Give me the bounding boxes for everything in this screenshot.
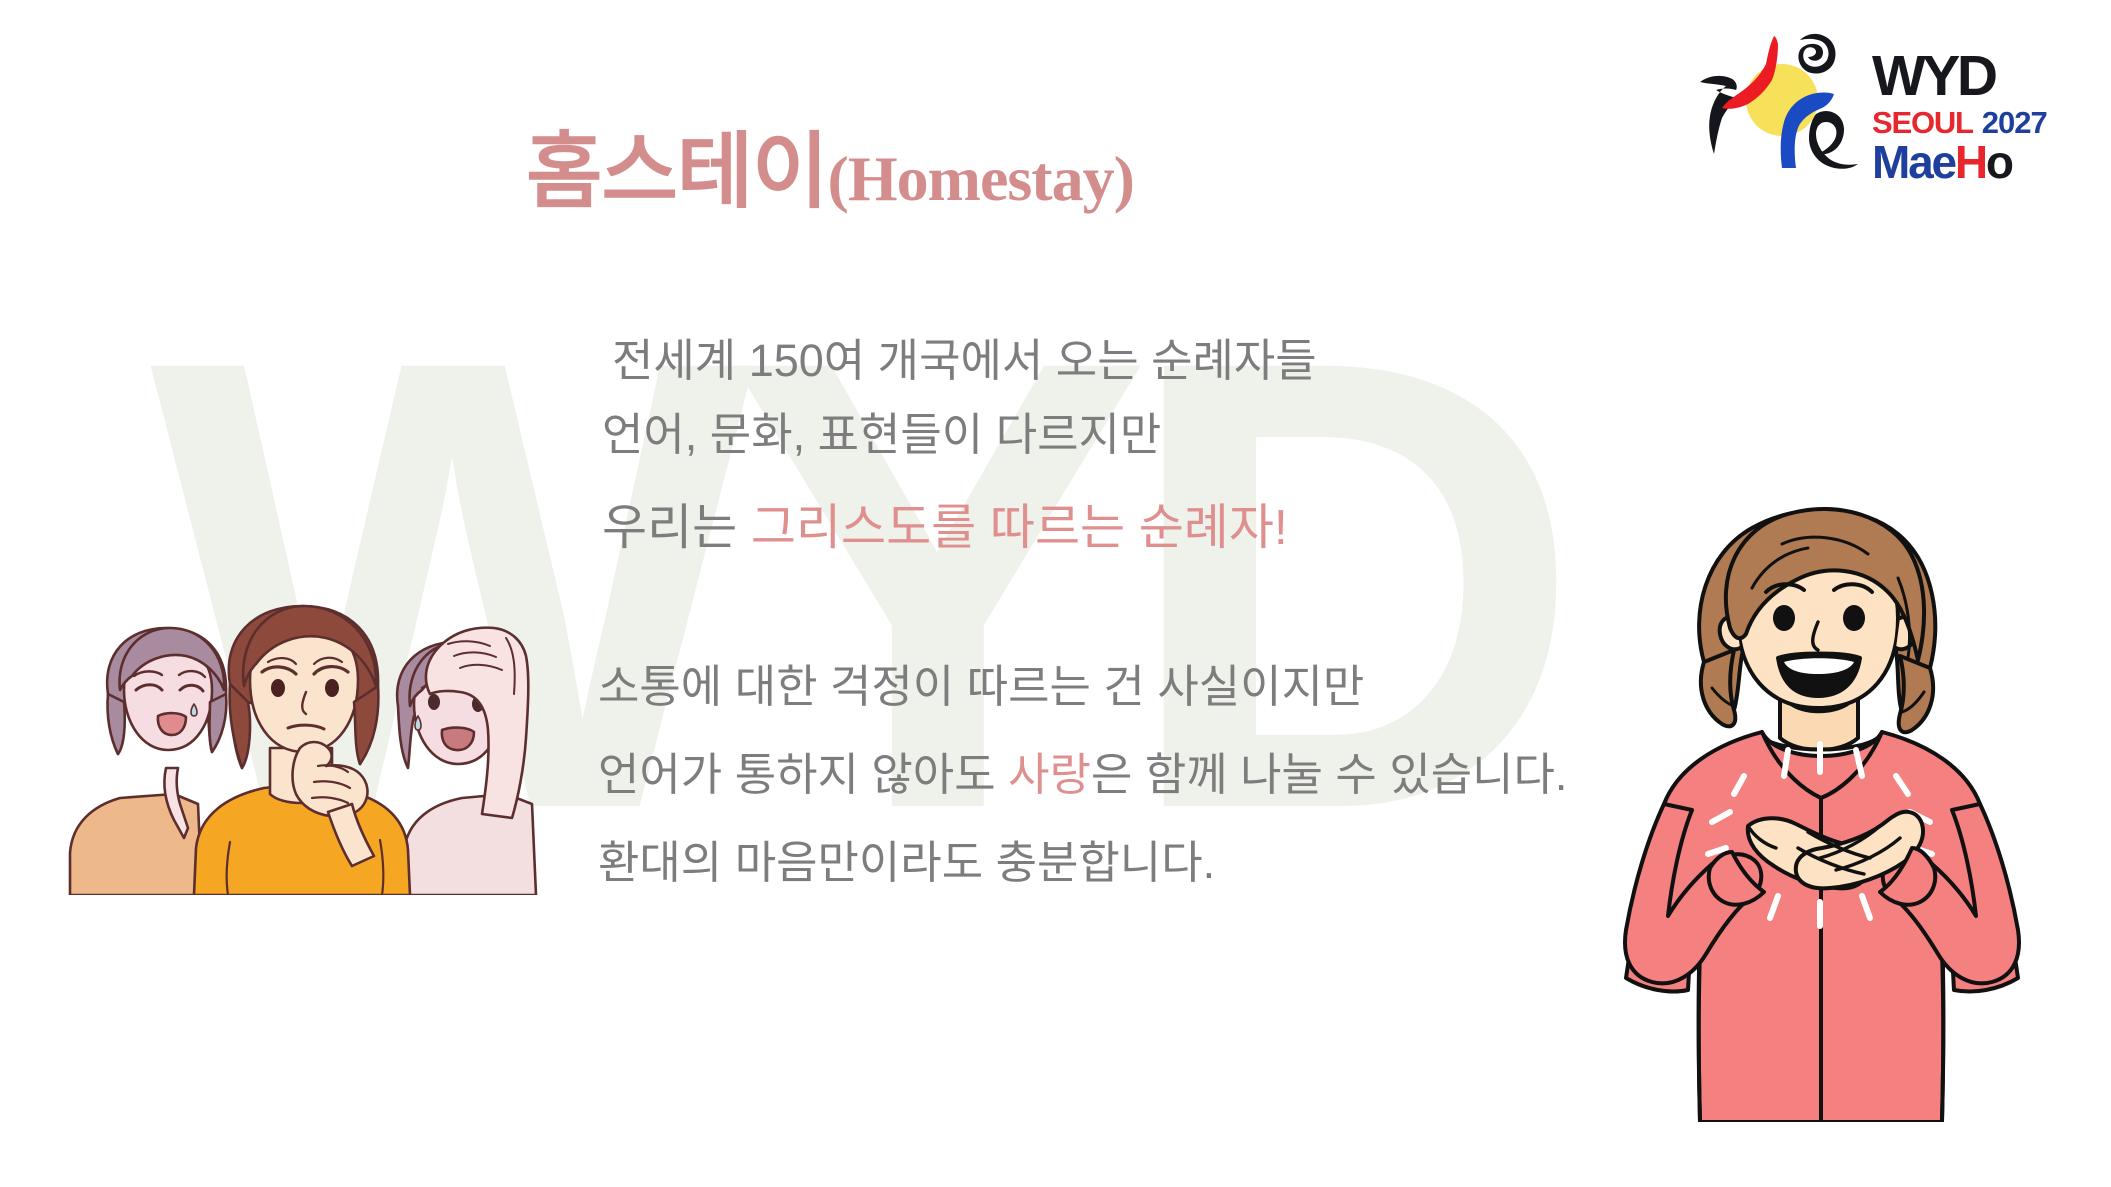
body-line-4: 소통에 대한 걱정이 따르는 건 사실이지만 — [598, 656, 1638, 718]
smiling-woman-graphic — [1612, 492, 2042, 1122]
paragraph-spacer — [598, 560, 1638, 656]
body-line-6: 환대의 마음만이라도 충분합니다. — [598, 832, 1638, 894]
slide-title-english: (Homestay) — [828, 143, 1134, 214]
body-line-5-highlight: 사랑 — [1008, 749, 1091, 800]
body-line-3-prefix: 우리는 — [602, 501, 751, 555]
logo-maeho-h-text: H — [1955, 139, 1986, 185]
body-line-2: 언어, 문화, 표현들이 다르지만 — [598, 404, 1638, 466]
slide-canvas: WYD WYD SEOUL 2027 Mae H o — [0, 0, 2111, 1187]
body-line-5: 언어가 통하지 않아도 사랑은 함께 나눌 수 있습니다. — [598, 744, 1638, 806]
three-worried-women-illustration — [62, 598, 552, 895]
body-line-1: 전세계 150여 개국에서 오는 순례자들 — [598, 330, 1638, 392]
logo-wyd-text: WYD — [1872, 48, 1994, 105]
body-line-3: 우리는 그리스도를 따르는 순례자! — [598, 496, 1638, 560]
slide-title: 홈스테이(Homestay) — [0, 104, 1660, 224]
body-text-block: 전세계 150여 개국에서 오는 순례자들 언어, 문화, 표현들이 다르지만 … — [598, 330, 1638, 894]
wyd-seoul-2027-maeho-logo: WYD SEOUL 2027 Mae H o — [1696, 18, 2091, 173]
wyd-emblem-icon — [1696, 18, 1868, 170]
smiling-woman-hands-on-heart-illustration — [1612, 492, 2042, 1122]
logo-year-text: 2027 — [1982, 107, 2047, 138]
body-line-5-prefix: 언어가 통하지 않아도 — [598, 749, 1008, 800]
logo-seoul-text: SEOUL — [1872, 107, 1973, 138]
logo-maeho-mae-text: Mae — [1872, 139, 1955, 185]
body-line-3-highlight: 그리스도를 따르는 순례자! — [751, 501, 1288, 555]
logo-maeho-o-text: o — [1986, 139, 2012, 185]
slide-title-korean: 홈스테이 — [526, 125, 827, 218]
three-worried-women-graphic — [62, 598, 552, 895]
body-line-5-suffix: 은 함께 나눌 수 있습니다. — [1091, 749, 1568, 800]
